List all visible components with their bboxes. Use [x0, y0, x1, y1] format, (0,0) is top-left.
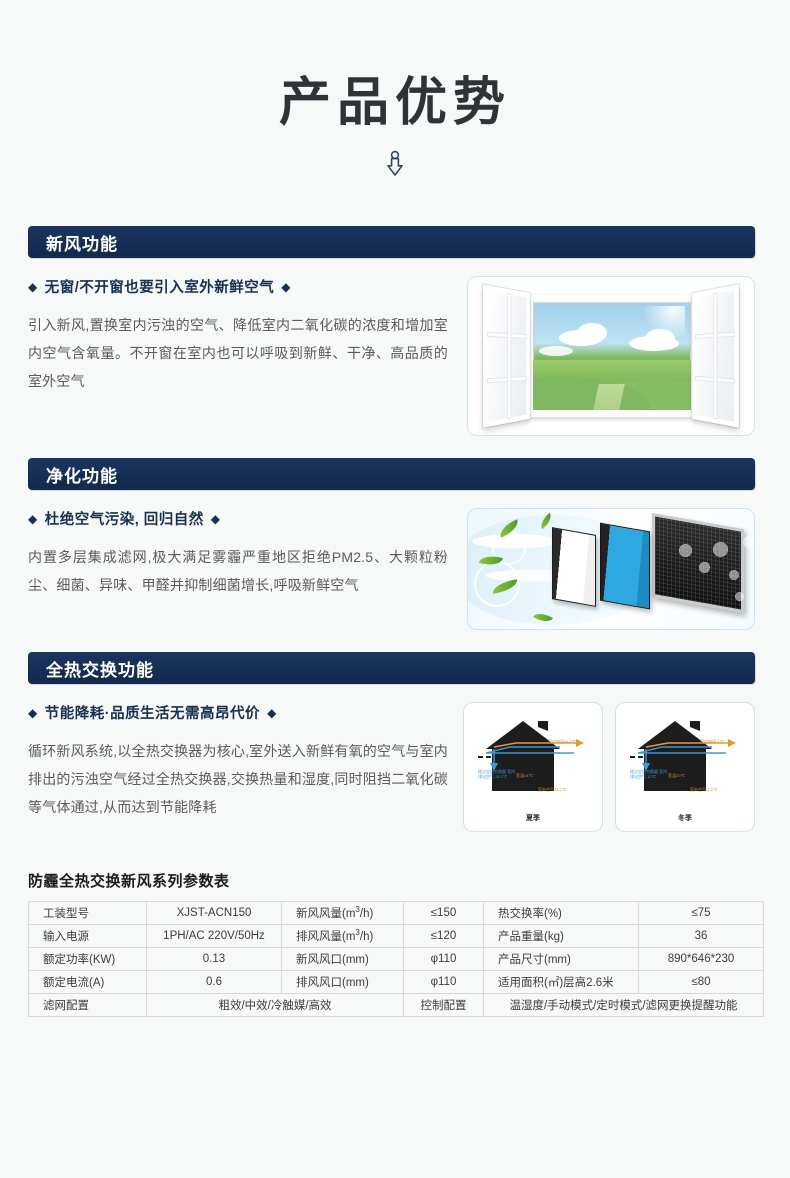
spec-table-title: 防霾全热交换新风系列参数表 [28, 870, 762, 891]
cell-value: 0.13 [147, 948, 282, 971]
diamond-icon-left: ◆ [28, 281, 38, 293]
cell-value: 0.6 [147, 971, 282, 994]
cell-value: 36 [639, 925, 764, 948]
cell-label: 热交换率(%) [484, 902, 639, 925]
section-bar-label: 新风功能 [28, 230, 118, 255]
open-window-photo [467, 276, 755, 436]
diagram-winter: 室内排风-1℃ 室外空气-1.8℃ 室温20℃ 经过全热交换器 室内排出空气 1… [615, 702, 755, 832]
subheading-text: 杜绝空气污染, 回归自然 [45, 508, 204, 529]
cell-label: 工装型号 [29, 902, 147, 925]
diamond-icon-left: ◆ [28, 707, 38, 719]
page-title: 产品优势 [0, 78, 790, 130]
cell-value: φ110 [404, 948, 484, 971]
diagram-note-return: 经过全热交换器 室内排出空气 12℃ [630, 769, 668, 780]
subheading-purification: ◆ 杜绝空气污染, 回归自然 ◆ [28, 508, 448, 529]
table-row: 工装型号 XJST-ACN150 新风风量(m3/h) ≤150 热交换率(%)… [29, 902, 764, 925]
section-purification: 净化功能 ◆ 杜绝空气污染, 回归自然 ◆ 内置多层集成滤网,极大满足雾霾严重地… [0, 458, 790, 630]
section-bar-heat-exchange: 全热交换功能 [28, 652, 755, 684]
diagram-note-supply: 室内排风34.2℃ [548, 739, 576, 745]
cell-label: 适用面积(㎡)层高2.6米 [484, 971, 639, 994]
down-arrow-icon [0, 150, 790, 178]
diagram-summer: 室内排风34.2℃ 室外空气34.2℃ 室温24℃ 经过全热交换器 室内排出空气… [463, 702, 603, 832]
cell-value: ≤120 [404, 925, 484, 948]
diamond-icon-right: ◆ [211, 513, 221, 525]
subheading-text: 节能降耗·品质生活无需高昂代价 [45, 702, 260, 723]
paragraph-purification: 内置多层集成滤网,极大满足雾霾严重地区拒绝PM2.5、大颗粒粉尘、细菌、异味、甲… [28, 543, 448, 599]
section-bar-fresh-air: 新风功能 [28, 226, 755, 258]
cell-label: 产品尺寸(mm) [484, 948, 639, 971]
table-row: 滤网配置 粗效/中效/冷触媒/高效 控制配置 温湿度/手动模式/定时模式/滤网更… [29, 994, 764, 1017]
cell-value: ≤150 [404, 902, 484, 925]
cell-label: 控制配置 [404, 994, 484, 1017]
diagram-note-supply: 室内排风-1℃ [700, 739, 724, 745]
subheading-text: 无窗/不开窗也要引入室外新鲜空气 [45, 276, 275, 297]
cell-value: 890*646*230 [639, 948, 764, 971]
section-fresh-air: 新风功能 ◆ 无窗/不开窗也要引入室外新鲜空气 ◆ 引入新风,置换室内污浊的空气… [0, 226, 790, 436]
cell-label: 新风风口(mm) [282, 948, 404, 971]
diagram-note-return: 经过全热交换器 室内排出空气 26.2℃ [478, 769, 516, 780]
cell-value: XJST-ACN150 [147, 902, 282, 925]
cell-label: 新风风量(m3/h) [282, 902, 404, 925]
paragraph-fresh-air: 引入新风,置换室内污浊的空气、降低室内二氧化碳的浓度和增加室内空气含氧量。不开窗… [28, 311, 448, 395]
spec-table-section: 防霾全热交换新风系列参数表 工装型号 XJST-ACN150 新风风量(m3/h… [28, 870, 762, 1017]
diagram-caption: 冬季 [616, 813, 754, 823]
section-bar-label: 全热交换功能 [28, 656, 154, 681]
section-bar-label: 净化功能 [28, 462, 118, 487]
cell-label: 额定电流(A) [29, 971, 147, 994]
table-row: 输入电源 1PH/AC 220V/50Hz 排风风量(m3/h) ≤120 产品… [29, 925, 764, 948]
diamond-icon-left: ◆ [28, 513, 38, 525]
filter-layers-photo [467, 508, 755, 630]
spec-table: 工装型号 XJST-ACN150 新风风量(m3/h) ≤150 热交换率(%)… [28, 901, 764, 1017]
section-heat-exchange: 全热交换功能 ◆ 节能降耗·品质生活无需高昂代价 ◆ 循环新风系统,以全热交换器… [0, 652, 790, 832]
cell-label: 滤网配置 [29, 994, 147, 1017]
cell-label: 输入电源 [29, 925, 147, 948]
diamond-icon-right: ◆ [267, 707, 277, 719]
diagram-note-outdoor: 室外空气-1.8℃ [690, 787, 717, 793]
diagram-caption: 夏季 [464, 813, 602, 823]
cell-value: ≤80 [639, 971, 764, 994]
cell-value: ≤75 [639, 902, 764, 925]
subheading-heat-exchange: ◆ 节能降耗·品质生活无需高昂代价 ◆ [28, 702, 448, 723]
table-row: 额定功率(KW) 0.13 新风风口(mm) φ110 产品尺寸(mm) 890… [29, 948, 764, 971]
cell-label: 额定功率(KW) [29, 948, 147, 971]
diamond-icon-right: ◆ [281, 281, 291, 293]
diagram-note-outdoor: 室外空气34.2℃ [538, 787, 566, 793]
table-row: 额定电流(A) 0.6 排风风口(mm) φ110 适用面积(㎡)层高2.6米 … [29, 971, 764, 994]
cell-label: 排风风口(mm) [282, 971, 404, 994]
cell-value: 粗效/中效/冷触媒/高效 [147, 994, 404, 1017]
page-header: 产品优势 [0, 0, 790, 178]
paragraph-heat-exchange: 循环新风系统,以全热交换器为核心,室外送入新鲜有氧的空气与室内排出的污浊空气经过… [28, 737, 448, 821]
cell-value: 1PH/AC 220V/50Hz [147, 925, 282, 948]
cell-label: 产品重量(kg) [484, 925, 639, 948]
section-bar-purification: 净化功能 [28, 458, 755, 490]
diagram-note-indoor: 室温20℃ [668, 773, 685, 779]
cell-value: φ110 [404, 971, 484, 994]
cell-label: 排风风量(m3/h) [282, 925, 404, 948]
cell-value: 温湿度/手动模式/定时模式/滤网更换提醒功能 [484, 994, 764, 1017]
diagram-note-indoor: 室温24℃ [516, 773, 533, 779]
subheading-fresh-air: ◆ 无窗/不开窗也要引入室外新鲜空气 ◆ [28, 276, 448, 297]
